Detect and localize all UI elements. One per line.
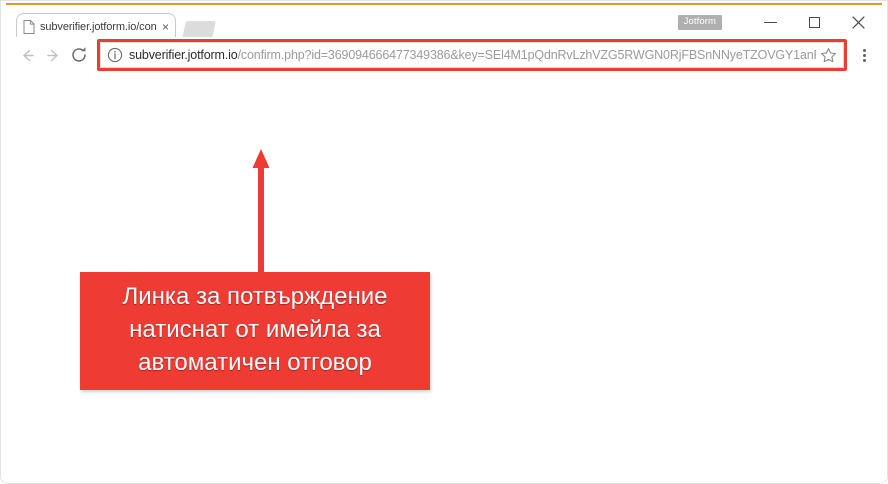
tab-title: subverifier.jotform.io/con [40,20,158,34]
minimize-button[interactable] [748,9,792,35]
forward-button[interactable] [40,42,66,68]
annotation-line: натиснат от имейла за [86,313,424,346]
url-text[interactable]: subverifier.jotform.io/confirm.php?id=36… [129,47,816,63]
address-bar[interactable]: subverifier.jotform.io/confirm.php?id=36… [100,42,844,68]
bookmark-star-icon[interactable] [820,47,837,64]
url-host: subverifier.jotform.io [129,48,238,62]
jotform-badge: Jotform [678,15,722,30]
tab-close-icon[interactable]: × [158,21,169,33]
back-button[interactable] [14,42,40,68]
menu-dot-icon [863,54,866,57]
url-path: /confirm.php?id=369094666477349386&key=S… [238,48,816,62]
annotation-arrow-up-icon [252,149,270,285]
arrow-left-icon [19,47,36,64]
browser-tab[interactable]: subverifier.jotform.io/con × [16,13,176,39]
page-document-icon [23,20,35,34]
minimize-icon [764,22,777,23]
info-icon[interactable] [107,47,123,63]
menu-dot-icon [863,49,866,52]
window-controls: Jotform [678,9,880,35]
reload-button[interactable] [66,42,92,68]
chrome-menu-button[interactable] [852,42,876,68]
screenshot-frame: subverifier.jotform.io/con × Jotform [0,0,888,484]
browser-toolbar: subverifier.jotform.io/confirm.php?id=36… [2,37,886,73]
reload-icon [70,46,88,64]
menu-dot-icon [863,59,866,62]
annotation-line: Линка за потвърждение [86,280,424,313]
page-content-area: Линка за потвърждение натиснат от имейла… [2,73,886,482]
arrow-right-icon [45,47,62,64]
annotation-line: автоматичен отговор [86,346,424,379]
browser-window: subverifier.jotform.io/con × Jotform [2,5,886,73]
close-icon [852,16,865,29]
address-bar-wrapper: subverifier.jotform.io/confirm.php?id=36… [100,42,844,68]
maximize-button[interactable] [792,9,836,35]
maximize-icon [809,17,820,28]
annotation-text-box: Линка за потвърждение натиснат от имейла… [80,272,430,390]
close-button[interactable] [836,9,880,35]
